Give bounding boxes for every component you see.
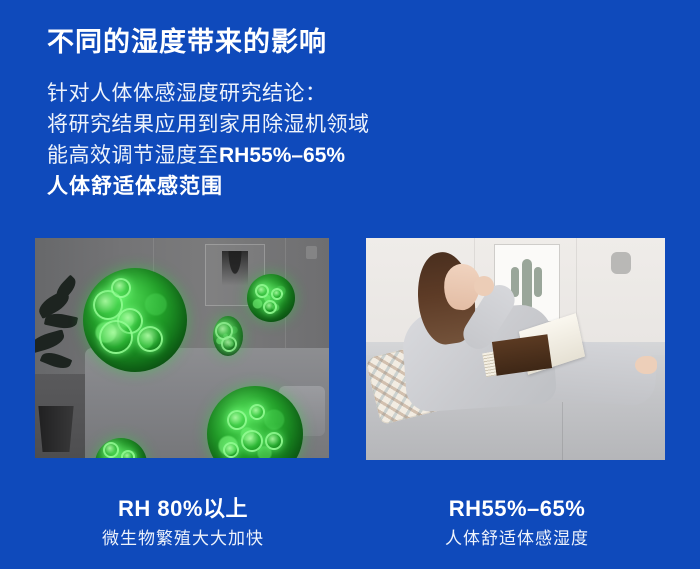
photo-high-humidity (35, 238, 329, 458)
intro-line-4: 人体舒适体感范围 (47, 171, 477, 202)
caption-sub-high-humidity: 微生物繁殖大大加快 (18, 528, 348, 550)
caption-comfort-humidity: RH55%–65% 人体舒适体感湿度 (352, 496, 682, 550)
microbe-cell (137, 326, 163, 352)
microbe-sphere-partial (213, 316, 243, 356)
microbe-cell (111, 278, 131, 298)
microbe-cell (249, 404, 265, 420)
microbe-cell (99, 320, 133, 354)
microbe-sphere-small (247, 274, 295, 322)
microbe-sphere-large (83, 268, 187, 372)
intro-line-3: 能高效调节湿度至RH55%–65% (47, 140, 477, 171)
microbe-cell (255, 284, 269, 298)
person-hand (474, 276, 494, 296)
page-title: 不同的湿度带来的影响 (47, 20, 327, 59)
microbe-sphere-bottom (95, 438, 147, 458)
caption-high-humidity: RH 80%以上 微生物繁殖大大加快 (18, 496, 348, 550)
microbe-cell (121, 450, 135, 458)
intro-line-2: 将研究结果应用到家用除湿机领域 (47, 109, 477, 140)
microbe-cell (103, 442, 119, 458)
microbe-cell (221, 336, 237, 352)
bright-living-room-scene (366, 238, 665, 460)
caption-sub-comfort-humidity: 人体舒适体感湿度 (352, 528, 682, 550)
microbe-cell (223, 442, 239, 458)
caption-title-comfort-humidity: RH55%–65% (352, 496, 682, 522)
intro-copy: 针对人体体感湿度研究结论： 将研究结果应用到家用除湿机领域 能高效调节湿度至RH… (47, 78, 477, 202)
microbe-cell (265, 432, 283, 450)
dim-living-room-scene (35, 238, 329, 458)
microbe-cell (263, 300, 277, 314)
wall-switch-icon (306, 246, 317, 259)
photo-comfort-humidity (366, 238, 665, 460)
intro-line-3-prefix: 能高效调节湿度至 (47, 144, 219, 167)
microbe-cell (227, 410, 247, 430)
microbe-sphere-foreground (207, 386, 303, 458)
sofa-seam (562, 402, 563, 460)
microbe-cell (241, 430, 263, 452)
cactus-icon (522, 259, 532, 311)
humidity-comparison-poster: 不同的湿度带来的影响 针对人体体感湿度研究结论： 将研究结果应用到家用除湿机领域… (0, 0, 700, 569)
person-foot (635, 356, 657, 374)
humidity-range-emphasis: RH55%–65% (219, 144, 345, 167)
wall-speaker-icon (611, 252, 631, 274)
microbe-cell (271, 288, 283, 300)
intro-line-1: 针对人体体感湿度研究结论： (47, 78, 477, 109)
caption-title-high-humidity: RH 80%以上 (18, 496, 348, 522)
